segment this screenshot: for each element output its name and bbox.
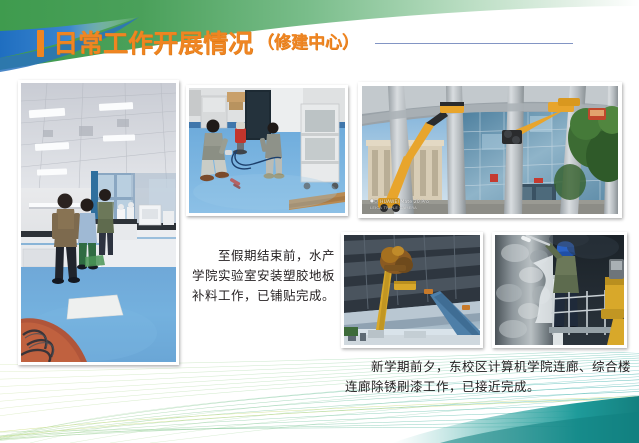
leica-dots-icon: ●○ (370, 199, 378, 204)
title-main-text: 日常工作开展情况 (53, 31, 253, 56)
slide-canvas: 日常工作开展情况 （修建中心） (0, 0, 639, 443)
photo-underbeam (341, 232, 483, 348)
camera-watermark: ●○HUAWEI Mate 20 Pro LEICA TRIPLE CAMERA (370, 199, 429, 210)
title-sub-text: （修建中心） (257, 35, 359, 52)
photo-painting (492, 232, 627, 348)
title-divider-rule (375, 43, 573, 44)
cabinet (301, 104, 339, 189)
photo-underbeam-artwork (344, 235, 480, 345)
photo-floorwork (186, 85, 348, 216)
title-accent-bar (37, 30, 44, 57)
photo-lab (18, 80, 179, 365)
watermark-line-2: LEICA TRIPLE CAMERA (370, 206, 429, 210)
bottom-teal-wedge (392, 396, 639, 443)
photo-facade-artwork (362, 86, 618, 214)
photo-facade: ●○HUAWEI Mate 20 Pro LEICA TRIPLE CAMERA (358, 82, 622, 218)
photo-floorwork-artwork (189, 88, 345, 213)
page-title: 日常工作开展情况 （修建中心） (0, 22, 639, 64)
lift-basket (394, 281, 416, 290)
caption-lab: 至假期结束前，水产学院实验室安装塑胶地板补料工作，已铺贴完成。 (192, 246, 340, 305)
photo-painting-artwork (495, 235, 624, 345)
caption-corridor: 新学期前夕，东校区计算机学院连廊、综合楼连廊除锈刷漆工作，已接近完成。 (345, 357, 633, 397)
photo-lab-artwork (21, 83, 176, 362)
